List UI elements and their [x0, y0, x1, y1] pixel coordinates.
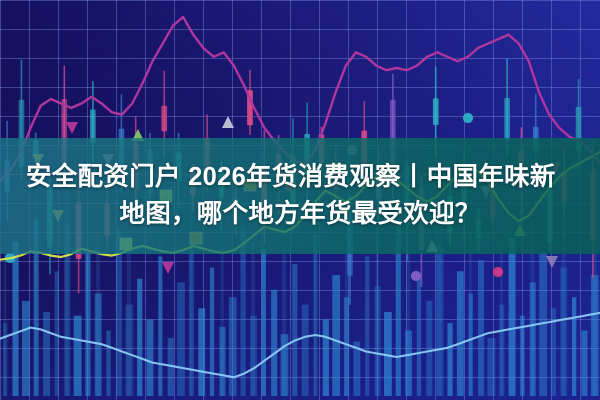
banner-title-line-2: 地图，哪个地方年货最受欢迎？ — [119, 196, 480, 233]
banner-title-line-1: 安全配资门户 2026年货消费观察丨中国年味新 — [26, 159, 556, 196]
series-volume-ma-lightblue — [0, 313, 600, 377]
chart-banner-image: 安全配资门户 2026年货消费观察丨中国年味新 地图，哪个地方年货最受欢迎？ — [0, 0, 600, 400]
banner-title: 安全配资门户 2026年货消费观察丨中国年味新 地图，哪个地方年货最受欢迎？ — [0, 138, 600, 254]
